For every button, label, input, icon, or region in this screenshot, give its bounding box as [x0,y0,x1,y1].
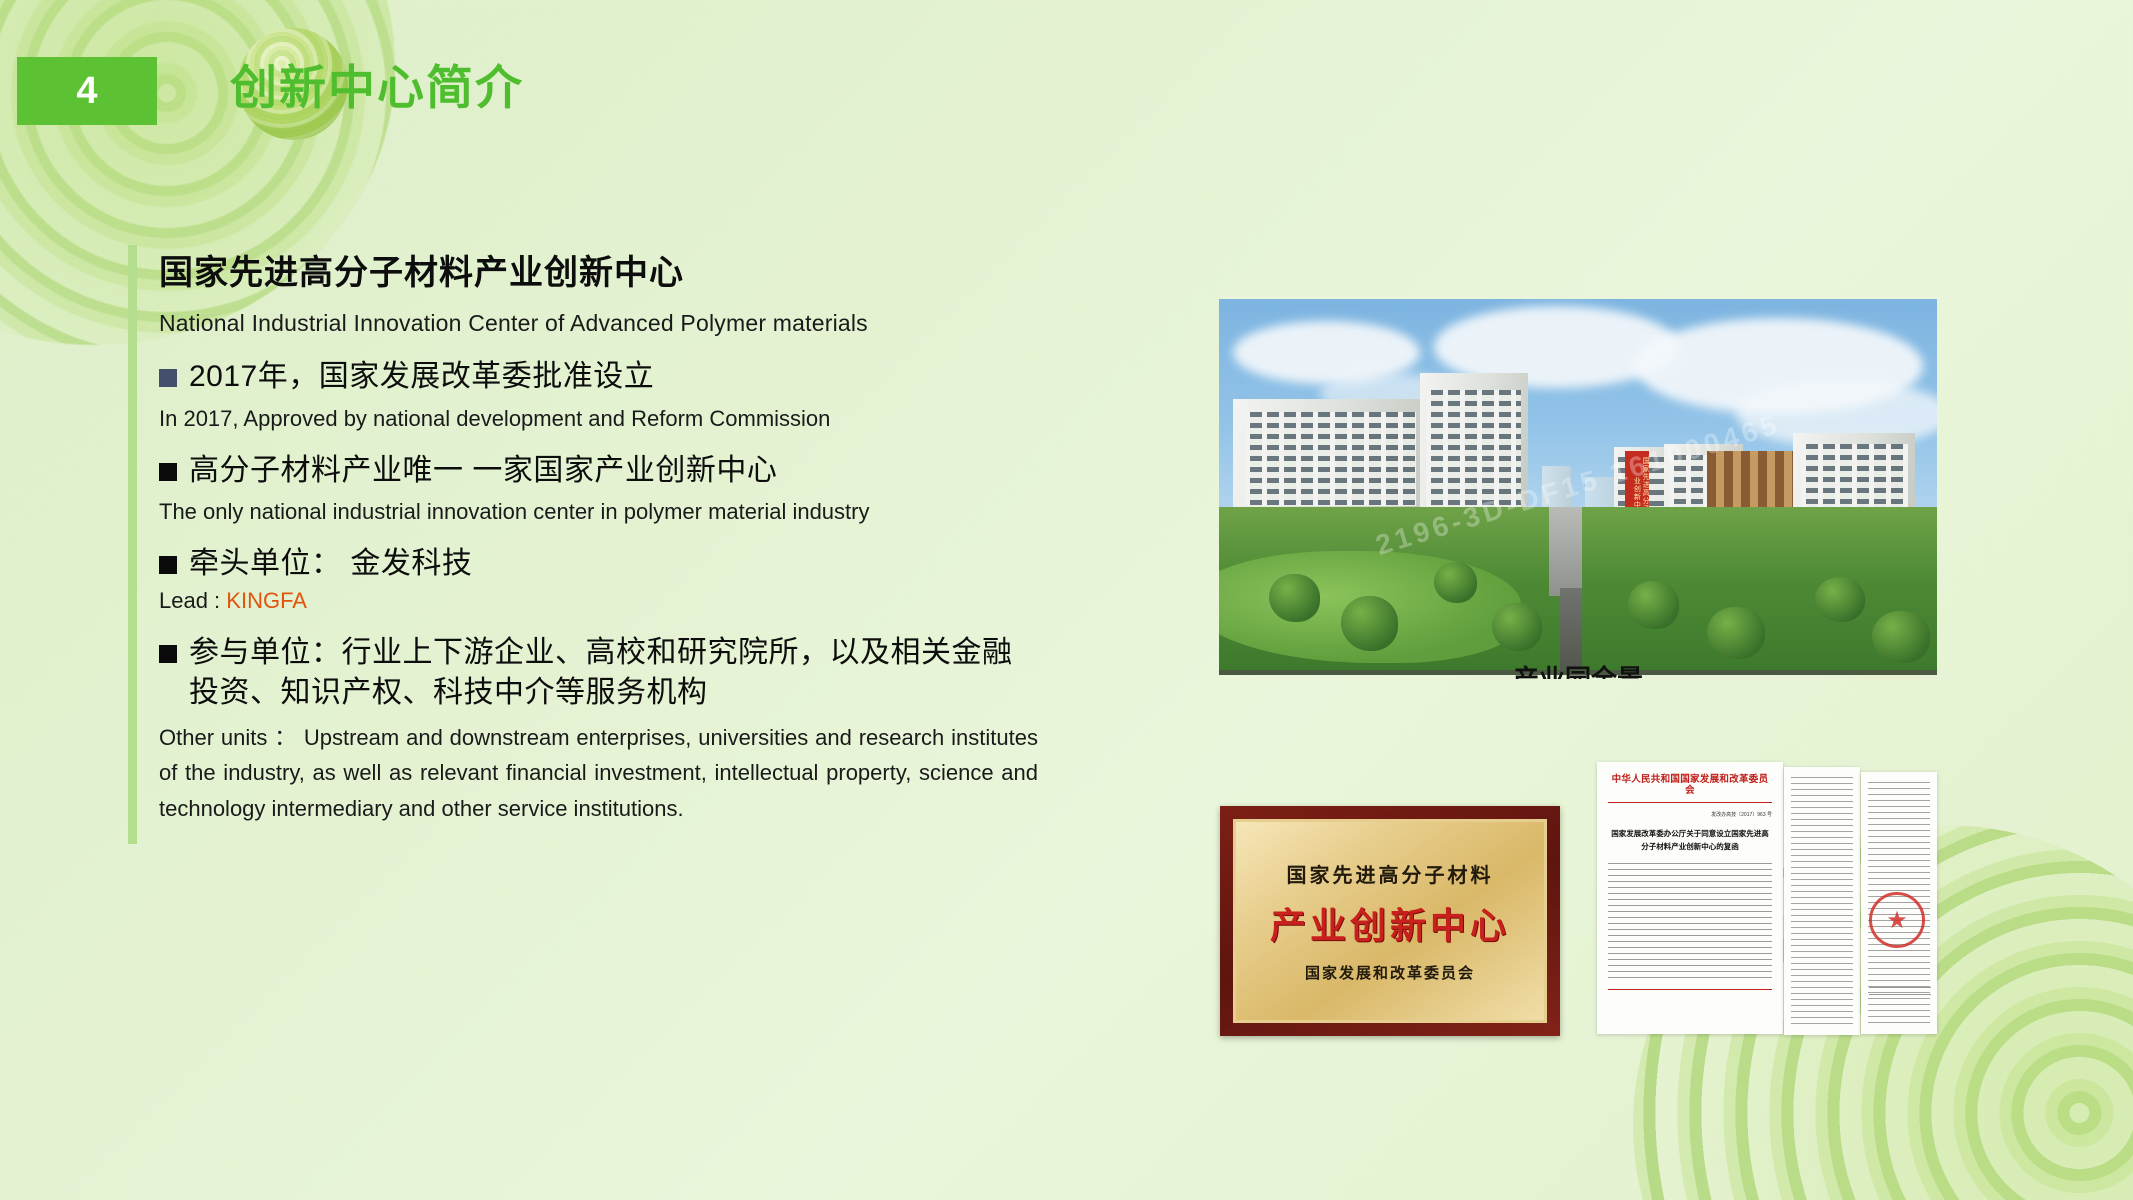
building-photo: 国家先进高分子材料产业创新中心 2196-3D-DF15 161000465 [1219,295,1937,675]
plaque-line-1: 国家先进高分子材料 [1287,859,1494,888]
document-signature-lines [1869,987,1931,1001]
page-title: 创新中心简介 [230,60,524,116]
photo-caption-clip: 产业园全景 [1219,661,1937,679]
bullet-item-participants: 参与单位：行业上下游企业、高校和研究院所，以及相关金融投资、知识产权、科技中介等… [159,633,1038,827]
bullet-square-icon [159,369,177,387]
bullet-square-icon [159,463,177,481]
document-title: 国家发展改革委办公厅关于同意设立国家先进高分子材料产业创新中心的复函 [1608,828,1772,854]
bullet-text-chinese: 2017年，国家发展改革委批准设立 [189,357,654,398]
bullet-item-lead-unit: 牵头单位： 金发科技 Lead : KINGFA [159,544,1038,615]
lead-label: Lead : [159,588,226,613]
bullet-square-icon [159,556,177,574]
official-documents: 中华人民共和国国家发展和改革委员会 发改办高技〔2017〕963 号 国家发展改… [1597,762,1937,1042]
official-red-seal-icon: ★ [1869,892,1925,948]
bullet-text-english: Other units ： Upstream and downstream en… [159,720,1038,827]
bullet-text-chinese: 参与单位：行业上下游企业、高校和研究院所，以及相关金融投资、知识产权、科技中介等… [189,633,1038,714]
content-column: 国家先进高分子材料产业创新中心 National Industrial Inno… [128,245,1038,844]
slide-number-badge: 4 [17,57,157,125]
bullet-text-chinese: 牵头单位： 金发科技 [189,544,472,585]
org-name-chinese: 国家先进高分子材料产业创新中心 [159,245,1038,294]
photo-caption: 产业园全景 [1219,661,1937,679]
bullet-text-english: The only national industrial innovation … [159,497,1038,526]
bullet-item-established: 2017年，国家发展改革委批准设立 In 2017, Approved by n… [159,357,1038,433]
document-body-text [1608,863,1772,983]
plaque-line-2: 产业创新中心 [1270,897,1510,949]
document-footer-rule [1608,989,1772,990]
document-reference-code: 发改办高技〔2017〕963 号 [1608,811,1772,818]
lead-line: Lead : KINGFA [159,586,1038,615]
kingfa-brand-label: KINGFA [226,588,307,613]
bullet-item-only-center: 高分子材料产业唯一 一家国家产业创新中心 The only national i… [159,451,1038,527]
bullet-text-chinese: 高分子材料产业唯一 一家国家产业创新中心 [189,451,777,492]
org-name-english: National Industrial Innovation Center of… [159,310,1038,337]
document-body-text [1791,777,1853,1025]
bullet-square-icon [159,645,177,663]
document-page-2 [1784,767,1860,1035]
document-main-page: 中华人民共和国国家发展和改革委员会 发改办高技〔2017〕963 号 国家发展改… [1597,762,1783,1034]
bullet-text-english: In 2017, Approved by national developmen… [159,404,1038,433]
tree-shape [1872,611,1929,663]
plaque-face: 国家先进高分子材料 产业创新中心 国家发展和改革委员会 [1233,819,1547,1023]
award-plaque: 国家先进高分子材料 产业创新中心 国家发展和改革委员会 [1220,806,1560,1036]
document-header: 中华人民共和国国家发展和改革委员会 [1608,774,1772,797]
document-header-rule [1608,802,1772,804]
plaque-line-3: 国家发展和改革委员会 [1305,962,1475,983]
